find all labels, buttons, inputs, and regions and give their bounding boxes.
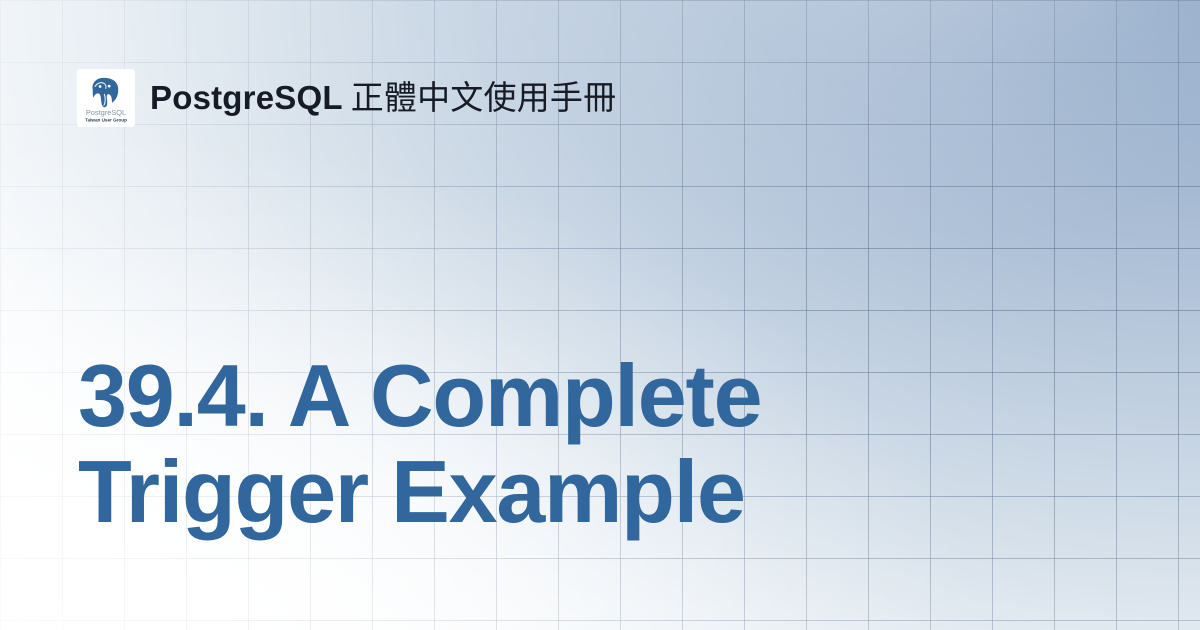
social-preview-card: PostgreSQL Taiwan User Group PostgreSQL正… [0,0,1200,630]
brand-suffix: 正體中文使用手冊 [351,79,617,116]
page-title: 39.4. A Complete Trigger Example [78,348,938,540]
brand-bar: PostgreSQL Taiwan User Group PostgreSQL正… [78,70,616,126]
card-content: PostgreSQL Taiwan User Group PostgreSQL正… [0,0,1200,630]
logo-subtitle-text: Taiwan User Group [85,117,127,122]
logo-wordmark-text: PostgreSQL [86,108,126,117]
postgresql-elephant-logo-icon: PostgreSQL Taiwan User Group [78,70,134,126]
brand-title: PostgreSQL正體中文使用手冊 [150,80,616,116]
brand-name: PostgreSQL [150,79,343,116]
